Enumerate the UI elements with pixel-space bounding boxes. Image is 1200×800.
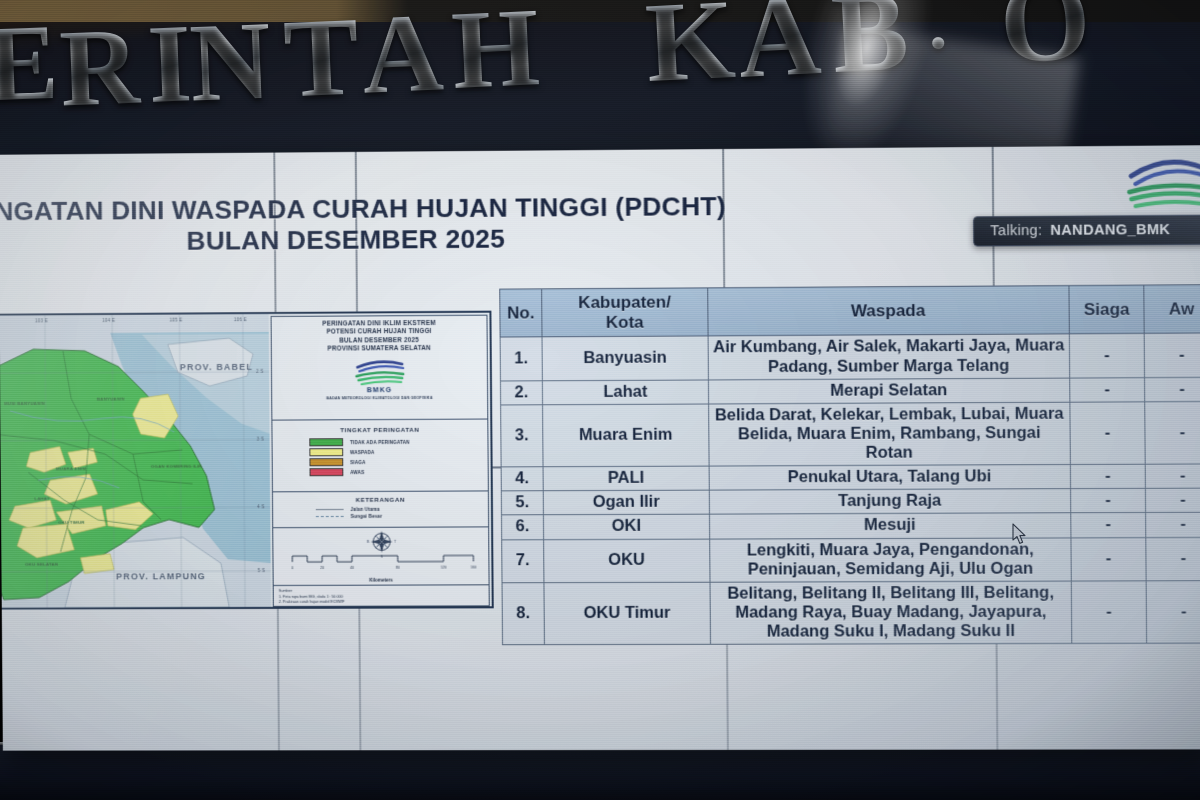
cell-no: 1.: [500, 337, 542, 380]
bmkg-logo: [1125, 153, 1200, 216]
wall-lower: [0, 745, 1200, 800]
map-grid-label-106e: 106 E: [234, 317, 247, 322]
talking-speaker-badge[interactable]: Talking: NANDANG_BMK: [973, 215, 1200, 247]
cell-kabupaten: OKU: [544, 539, 710, 583]
cell-no: 3.: [501, 405, 543, 468]
legend-level-label: WASPADA: [350, 450, 374, 455]
cell-awas: -: [1145, 377, 1200, 402]
table-row[interactable]: 6. OKI Mesuji - -: [501, 513, 1200, 540]
slide-title: RINGATAN DINI WASPADA CURAH HUJAN TINGGI…: [0, 190, 926, 260]
col-header-kabupaten-line1: Kabupaten/: [578, 293, 671, 313]
legend-source-box: Sumber: 1. Peta rupa bumi BIG, skala 1 :…: [274, 585, 489, 608]
table-row[interactable]: 3. Muara Enim Belida Darat, Kelekar, Lem…: [501, 401, 1200, 467]
svg-text:120: 120: [441, 565, 447, 569]
map-label-prov-lampung: PROV. LAMPUNG: [116, 571, 206, 581]
map-figure: PROV. BABEL PROV. LAMPUNG 103 E 104 E 10…: [0, 311, 494, 610]
legend-scale-box: U S B T 0 20 40 80 12: [273, 527, 488, 586]
warning-table-container: No. Kabupaten/ Kota Waspada Siaga Aw 1. …: [499, 284, 1200, 645]
line-symbol-sungai-besar: [316, 516, 344, 517]
map-district-label: MUSI BANYUASIN: [4, 401, 45, 406]
map-grid-label-2s: 2 S: [256, 369, 263, 374]
scale-ticks: 0 20 40 80 120 160: [291, 565, 476, 570]
wall-sign-metal-letters: E R I N T A H K A B . O: [0, 0, 1200, 128]
cell-kabupaten: PALI: [543, 466, 709, 491]
cell-kabupaten: OKI: [543, 515, 709, 540]
table-row[interactable]: 1. Banyuasin Air Kumbang, Air Salek, Mak…: [500, 333, 1200, 380]
table-row[interactable]: 7. OKU Lengkiti, Muara Jaya, Pengandonan…: [502, 537, 1200, 583]
legend-level-row: TIDAK ADA PERINGATAN: [309, 438, 484, 447]
map-grid-label-104e: 104 E: [102, 318, 115, 323]
cell-siaga: -: [1071, 537, 1146, 581]
map-district-label: OKU SELATAN: [25, 562, 58, 567]
slide-title-line2: BULAN DESEMBER 2025: [0, 221, 926, 260]
table-row[interactable]: 2. Lahat Merapi Selatan - -: [500, 377, 1200, 405]
legend-title-line4: PROVINSI SUMATERA SELATAN: [275, 345, 484, 355]
cell-siaga: -: [1071, 464, 1146, 489]
map-district-label: MUARA ENIM: [56, 466, 86, 471]
cell-waspada: Mesuji: [709, 513, 1071, 539]
cell-awas: -: [1145, 464, 1200, 489]
map-legend-card: PERINGATAN DINI IKLIM EKSTREM POTENSI CU…: [271, 315, 490, 607]
legend-levels-box: TINGKAT PERINGATAN TIDAK ADA PERINGATAN …: [272, 420, 487, 493]
cell-waspada: Tanjung Raja: [709, 489, 1071, 515]
cell-siaga: -: [1070, 402, 1145, 465]
col-header-awas: Aw: [1144, 285, 1200, 334]
svg-text:80: 80: [396, 566, 400, 570]
cell-siaga: -: [1071, 581, 1146, 644]
table-row[interactable]: 8. OKU Timur Belitang, Belitang II, Beli…: [502, 580, 1200, 644]
cell-no: 7.: [502, 539, 544, 582]
svg-text:0: 0: [291, 566, 293, 570]
legend-level-label: TIDAK ADA PERINGATAN: [350, 439, 410, 444]
col-header-siaga: Siaga: [1069, 285, 1144, 334]
legend-level-label: AWAS: [350, 470, 364, 475]
legend-swatch-siaga: [309, 458, 343, 466]
col-header-kabupaten-line2: Kota: [606, 312, 644, 331]
legend-agency-long: BADAN METEOROLOGI KLIMATOLOGI DAN GEOFIS…: [275, 395, 484, 400]
cell-no: 6.: [501, 515, 543, 539]
legend-keterangan-box: KETERANGAN Jalan Utama Sungai Besar: [273, 491, 488, 528]
cell-no: 5.: [501, 491, 543, 515]
talking-label: Talking:: [990, 223, 1042, 239]
cell-waspada: Lengkiti, Muara Jaya, Pengandonan, Penin…: [709, 537, 1071, 582]
cell-no: 8.: [502, 582, 544, 644]
keterangan-row: Sungai Besar: [276, 513, 485, 519]
cell-kabupaten: OKU Timur: [544, 582, 710, 645]
map-grid-label-3s: 3 S: [257, 437, 264, 442]
legend-swatch-waspada: [309, 448, 343, 456]
warning-table: No. Kabupaten/ Kota Waspada Siaga Aw 1. …: [499, 284, 1200, 645]
cell-waspada: Air Kumbang, Air Salek, Makarti Jaya, Mu…: [708, 334, 1070, 379]
cell-kabupaten: Banyuasin: [542, 336, 708, 380]
legend-level-row: WASPADA: [309, 448, 484, 457]
svg-text:160: 160: [470, 565, 476, 569]
photo-scene: E R I N T A H K A B . O RINGATAN DINI WA…: [0, 0, 1200, 800]
cell-awas: -: [1144, 333, 1200, 377]
svg-text:T: T: [394, 540, 396, 544]
cell-awas: -: [1145, 401, 1200, 464]
svg-text:U: U: [380, 529, 383, 530]
compass-and-scalebar: U S B T 0 20 40 80 12: [276, 529, 487, 572]
map-district-label: OKU TIMUR: [58, 520, 84, 525]
compass-rose-icon: U S B T: [367, 529, 396, 558]
cell-siaga: -: [1071, 513, 1146, 538]
sumsel-map: PROV. BABEL PROV. LAMPUNG 103 E 104 E 10…: [0, 314, 271, 608]
cell-awas: -: [1146, 537, 1200, 581]
legend-keterangan-heading: KETERANGAN: [276, 496, 485, 504]
cell-awas: -: [1145, 488, 1200, 513]
table-row[interactable]: 4. PALI Penukal Utara, Talang Ubi - -: [501, 464, 1200, 491]
cell-kabupaten: Lahat: [542, 380, 708, 405]
cell-no: 4.: [501, 467, 543, 491]
svg-text:B: B: [367, 540, 370, 544]
line-symbol-jalan-utama: [316, 509, 344, 510]
svg-text:20: 20: [320, 566, 324, 570]
table-row[interactable]: 5. Ogan Ilir Tanjung Raja - -: [501, 488, 1200, 515]
cell-waspada: Belida Darat, Kelekar, Lembak, Lubai, Mu…: [708, 402, 1070, 466]
map-grid-label-4s: 4 S: [257, 504, 264, 509]
map-district-label: OGAN KOMERING ILIR: [151, 464, 202, 469]
cell-awas: -: [1146, 513, 1200, 538]
legend-level-row: SIAGA: [309, 458, 484, 467]
table-header-row: No. Kabupaten/ Kota Waspada Siaga Aw: [500, 285, 1200, 338]
talking-speaker-name: NANDANG_BMK: [1050, 222, 1170, 239]
cell-siaga: -: [1069, 334, 1144, 378]
legend-title-box: PERINGATAN DINI IKLIM EKSTREM POTENSI CU…: [272, 316, 488, 421]
legend-swatch-awas: [310, 468, 344, 476]
col-header-no: No.: [500, 289, 542, 338]
legend-level-label: SIAGA: [350, 460, 366, 465]
cell-waspada: Merapi Selatan: [708, 378, 1070, 404]
cell-kabupaten: Ogan Ilir: [543, 490, 709, 515]
legend-agency-short: BMKG: [275, 386, 484, 394]
map-grid-label-103e: 103 E: [35, 318, 48, 323]
map-grid-label-5s: 5 S: [258, 568, 265, 573]
map-district-label: BANYUASIN: [97, 396, 125, 401]
cell-kabupaten: Muara Enim: [543, 404, 709, 467]
keterangan-row: Jalan Utama: [276, 506, 485, 512]
keterangan-label: Jalan Utama: [351, 507, 380, 512]
map-grid-label-105e: 105 E: [169, 318, 182, 323]
map-district-label: LAHAT: [34, 496, 49, 501]
legend-swatch-tidak-ada: [309, 438, 343, 446]
svg-text:40: 40: [350, 566, 354, 570]
map-label-prov-babel: PROV. BABEL: [180, 362, 253, 372]
cell-waspada: Penukal Utara, Talang Ubi: [709, 465, 1071, 491]
bmkg-logo-small: [353, 357, 405, 387]
cell-awas: -: [1146, 580, 1200, 643]
cell-siaga: -: [1070, 377, 1145, 402]
col-header-waspada: Waspada: [707, 286, 1069, 337]
cell-waspada: Belitang, Belitang II, Belitang III, Bel…: [710, 581, 1072, 645]
cell-no: 2.: [500, 380, 542, 404]
col-header-kabupaten: Kabupaten/ Kota: [542, 288, 708, 337]
legend-level-row: AWAS: [310, 468, 485, 477]
source-item: 2. Prakiraan curah hujan model ECMWF: [279, 599, 484, 605]
scale-unit-label: Kilometers: [277, 577, 486, 583]
cell-siaga: -: [1071, 489, 1146, 514]
keterangan-label: Sungai Besar: [351, 514, 383, 519]
presentation-screen: RINGATAN DINI WASPADA CURAH HUJAN TINGGI…: [0, 145, 1200, 750]
legend-levels-heading: TINGKAT PERINGATAN: [275, 427, 484, 435]
slide-title-line1: RINGATAN DINI WASPADA CURAH HUJAN TINGGI…: [0, 191, 726, 226]
